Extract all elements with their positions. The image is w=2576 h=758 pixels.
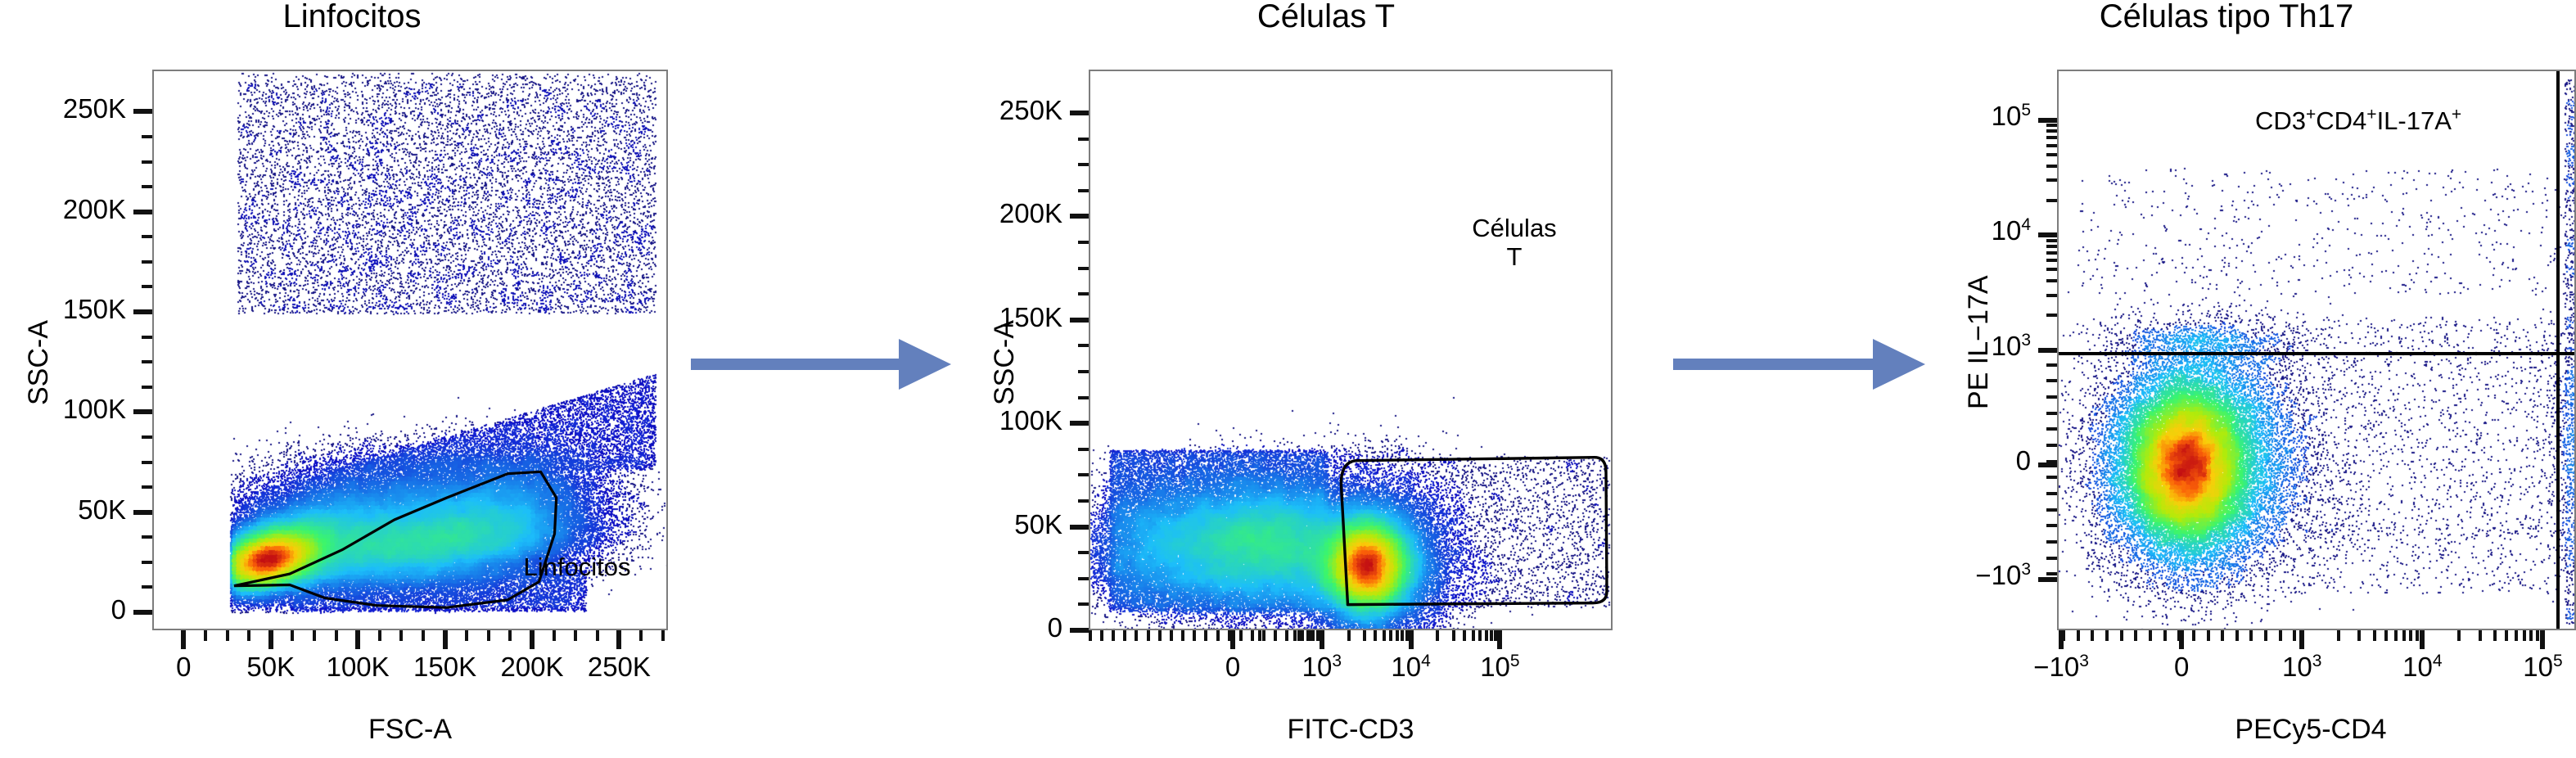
y-major-tick xyxy=(2038,577,2057,582)
x-minor-tick xyxy=(2264,630,2267,641)
x-minor-tick xyxy=(422,630,425,641)
x-minor-tick xyxy=(1490,630,1493,641)
x-minor-tick xyxy=(1147,630,1150,641)
y-major-tick xyxy=(1070,421,1089,426)
y-minor-tick xyxy=(1078,602,1089,606)
y-minor-tick xyxy=(1078,448,1089,451)
y-minor-tick xyxy=(1078,344,1089,347)
x-minor-tick xyxy=(1311,630,1315,641)
x-minor-tick xyxy=(2192,630,2195,641)
x-tick-label: 105 xyxy=(2481,652,2576,683)
x-minor-tick xyxy=(1405,630,1409,641)
y-minor-tick xyxy=(142,461,152,464)
x-minor-tick xyxy=(291,630,294,641)
x-minor-tick xyxy=(1239,630,1243,641)
y-major-tick xyxy=(133,309,152,314)
x-tick-label: 105 xyxy=(1438,652,1561,683)
y-minor-tick xyxy=(142,160,152,164)
x-minor-tick xyxy=(2249,630,2253,641)
x-minor-tick xyxy=(1383,630,1386,641)
y-major-tick xyxy=(1070,111,1089,115)
plot-area-celulas-t[interactable] xyxy=(1089,70,1613,630)
x-minor-tick xyxy=(399,630,403,641)
x-minor-tick xyxy=(313,630,316,641)
x-minor-tick xyxy=(2221,630,2224,641)
y-minor-tick xyxy=(2046,245,2057,248)
x-minor-tick xyxy=(639,630,643,641)
x-minor-tick xyxy=(1089,630,1092,641)
x-minor-tick xyxy=(2207,630,2210,641)
scatter-canvas-celulas-t xyxy=(1090,71,1613,630)
x-minor-tick xyxy=(1216,630,1220,641)
x-major-tick xyxy=(616,630,621,649)
x-minor-tick xyxy=(2479,630,2482,641)
y-minor-tick xyxy=(2046,460,2057,463)
y-minor-tick xyxy=(1078,138,1089,141)
x-major-tick xyxy=(181,630,186,649)
x-minor-tick xyxy=(378,630,381,641)
x-minor-tick xyxy=(1363,630,1366,641)
y-minor-tick xyxy=(1078,163,1089,166)
x-minor-tick xyxy=(2134,630,2137,641)
y-minor-tick xyxy=(2046,153,2057,156)
y-minor-tick xyxy=(2046,379,2057,382)
x-minor-tick xyxy=(1135,630,1138,641)
x-minor-tick xyxy=(204,630,207,641)
x-minor-tick xyxy=(1297,630,1301,641)
y-major-tick xyxy=(2038,232,2057,237)
x-minor-tick xyxy=(1389,630,1392,641)
x-minor-tick xyxy=(2536,630,2539,641)
y-minor-tick xyxy=(2046,557,2057,560)
x-minor-tick xyxy=(487,630,490,641)
y-major-tick xyxy=(1070,628,1089,633)
x-minor-tick xyxy=(2505,630,2508,641)
y-minor-tick xyxy=(2046,412,2057,415)
gate-label-celulas-t-line1: Células xyxy=(1424,214,1604,243)
y-tick-label: 50K xyxy=(0,494,126,526)
x-minor-tick xyxy=(1228,630,1231,641)
y-minor-tick xyxy=(2046,314,2057,317)
x-minor-tick xyxy=(247,630,250,641)
y-minor-tick xyxy=(142,386,152,389)
x-minor-tick xyxy=(2337,630,2340,641)
y-minor-tick xyxy=(1078,473,1089,476)
gate-label-celulas-t-line2: T xyxy=(1424,243,1604,272)
y-minor-tick xyxy=(2046,476,2057,479)
quadrant-divider-vertical[interactable] xyxy=(2556,71,2560,630)
y-minor-tick xyxy=(2046,508,2057,512)
x-minor-tick xyxy=(1494,630,1497,641)
y-minor-tick xyxy=(2046,572,2057,575)
y-minor-tick xyxy=(142,535,152,539)
x-major-tick xyxy=(2299,630,2304,649)
y-minor-tick xyxy=(1078,499,1089,503)
y-minor-tick xyxy=(2046,294,2057,297)
x-tick-label: 0 xyxy=(2120,652,2243,683)
x-minor-tick xyxy=(2177,630,2181,641)
x-axis-label-celulas-t: FITC-CD3 xyxy=(1089,714,1613,746)
y-major-tick xyxy=(133,109,152,114)
x-minor-tick xyxy=(1401,630,1404,641)
plot-area-celulas-th17[interactable] xyxy=(2057,70,2576,630)
y-minor-tick xyxy=(2046,363,2057,367)
y-minor-tick xyxy=(1078,292,1089,296)
x-minor-tick xyxy=(508,630,512,641)
x-major-tick xyxy=(530,630,535,649)
x-minor-tick xyxy=(1463,630,1466,641)
x-minor-tick xyxy=(1478,630,1482,641)
y-minor-tick xyxy=(1078,577,1089,580)
x-minor-tick xyxy=(1374,630,1377,641)
x-minor-tick xyxy=(574,630,577,641)
y-tick-label: 104 xyxy=(1893,215,2031,246)
y-major-tick xyxy=(133,210,152,214)
x-major-tick xyxy=(268,630,273,649)
arrow-linfocitos-to-celulas-t xyxy=(688,327,958,401)
y-major-tick xyxy=(2038,118,2057,123)
x-minor-tick xyxy=(1204,630,1207,641)
x-minor-tick xyxy=(2515,630,2518,641)
x-minor-tick xyxy=(2149,630,2152,641)
panel-title-celulas-th17: Células tipo Th17 xyxy=(1899,0,2554,35)
y-major-tick xyxy=(1070,214,1089,219)
x-minor-tick xyxy=(2279,630,2282,641)
y-minor-tick xyxy=(2046,124,2057,127)
x-minor-tick xyxy=(2409,630,2412,641)
y-minor-tick xyxy=(2046,427,2057,431)
x-minor-tick xyxy=(2402,630,2406,641)
x-minor-tick xyxy=(1181,630,1184,641)
quadrant-label-cd3-cd4-il17a: CD3+CD4+IL-17A+ xyxy=(2255,106,2461,136)
x-minor-tick xyxy=(1258,630,1261,641)
x-minor-tick xyxy=(1316,630,1320,641)
y-tick-label: 0 xyxy=(0,594,126,625)
x-minor-tick xyxy=(2120,630,2123,641)
y-minor-tick xyxy=(2046,144,2057,147)
x-minor-tick xyxy=(2235,630,2239,641)
y-tick-label: 200K xyxy=(925,198,1062,229)
x-minor-tick xyxy=(2457,630,2461,641)
y-minor-tick xyxy=(2046,395,2057,399)
x-minor-tick xyxy=(1472,630,1475,641)
x-major-tick xyxy=(2420,630,2425,649)
panel-title-celulas-t: Células T xyxy=(966,0,1686,35)
x-minor-tick xyxy=(1193,630,1196,641)
y-major-tick xyxy=(1070,525,1089,530)
x-minor-tick xyxy=(661,630,665,641)
y-minor-tick xyxy=(2046,251,2057,255)
y-minor-tick xyxy=(2046,136,2057,139)
y-minor-tick xyxy=(142,561,152,564)
x-minor-tick xyxy=(2293,630,2296,641)
x-minor-tick xyxy=(2373,630,2376,641)
x-major-tick xyxy=(2540,630,2545,649)
arrow-celulas-t-to-th17 xyxy=(1670,327,1932,401)
figure-canvas: Linfocitos SSC-A FSC-A Linfocitos 050K10… xyxy=(0,0,2576,758)
x-minor-tick xyxy=(1251,630,1254,641)
x-minor-tick xyxy=(2357,630,2361,641)
x-axis-label-celulas-th17: PECy5-CD4 xyxy=(2057,714,2565,746)
x-tick-label: 104 xyxy=(2361,652,2484,683)
x-major-tick xyxy=(355,630,360,649)
x-minor-tick xyxy=(1301,630,1304,641)
y-minor-tick xyxy=(2046,259,2057,262)
x-minor-tick xyxy=(1100,630,1103,641)
y-minor-tick xyxy=(1078,396,1089,399)
x-axis-label-linfocitos: FSC-A xyxy=(152,714,668,746)
y-minor-tick xyxy=(1078,241,1089,244)
y-minor-tick xyxy=(2046,178,2057,182)
y-tick-label: −103 xyxy=(1893,560,2031,591)
y-tick-label: 100K xyxy=(0,394,126,425)
x-minor-tick xyxy=(2105,630,2109,641)
y-tick-label: 150K xyxy=(0,294,126,325)
y-tick-label: 200K xyxy=(0,194,126,225)
y-minor-tick xyxy=(142,360,152,363)
gate-label-linfocitos: Linfocitos xyxy=(491,553,663,582)
x-minor-tick xyxy=(2091,630,2094,641)
x-minor-tick xyxy=(226,630,229,641)
x-minor-tick xyxy=(335,630,338,641)
x-minor-tick xyxy=(2416,630,2419,641)
x-tick-label: 250K xyxy=(557,652,680,683)
x-major-tick xyxy=(443,630,448,649)
y-minor-tick xyxy=(142,135,152,138)
y-minor-tick xyxy=(142,435,152,439)
x-minor-tick xyxy=(2523,630,2526,641)
y-minor-tick xyxy=(2046,540,2057,544)
scatter-canvas-celulas-th17 xyxy=(2059,71,2576,630)
x-minor-tick xyxy=(465,630,468,641)
x-minor-tick xyxy=(1158,630,1162,641)
x-minor-tick xyxy=(1123,630,1126,641)
panel-linfocitos: Linfocitos SSC-A FSC-A Linfocitos 050K10… xyxy=(0,0,704,758)
x-minor-tick xyxy=(1396,630,1399,641)
y-minor-tick xyxy=(2046,492,2057,495)
y-minor-tick xyxy=(2046,199,2057,202)
y-minor-tick xyxy=(1078,370,1089,373)
y-minor-tick xyxy=(2046,129,2057,133)
x-major-tick xyxy=(1230,630,1235,649)
x-major-tick xyxy=(1497,630,1502,649)
x-minor-tick xyxy=(1309,630,1312,641)
y-minor-tick xyxy=(142,485,152,489)
x-tick-label: −103 xyxy=(2000,652,2123,683)
y-major-tick xyxy=(2038,348,2057,353)
x-minor-tick xyxy=(2163,630,2167,641)
y-tick-label: 100K xyxy=(925,405,1062,436)
y-minor-tick xyxy=(142,336,152,339)
y-minor-tick xyxy=(142,260,152,264)
x-minor-tick xyxy=(596,630,599,641)
x-minor-tick xyxy=(1347,630,1351,641)
x-minor-tick xyxy=(2529,630,2533,641)
y-minor-tick xyxy=(2046,444,2057,447)
y-minor-tick xyxy=(1078,189,1089,192)
y-major-tick xyxy=(133,409,152,414)
y-minor-tick xyxy=(2046,268,2057,271)
x-minor-tick xyxy=(1274,630,1277,641)
panel-title-linfocitos: Linfocitos xyxy=(0,0,704,35)
y-tick-label: 0 xyxy=(1893,445,2031,476)
y-major-tick xyxy=(2038,462,2057,467)
y-minor-tick xyxy=(1078,551,1089,554)
y-minor-tick xyxy=(2046,165,2057,168)
y-minor-tick xyxy=(2046,279,2057,282)
y-minor-tick xyxy=(2046,524,2057,527)
y-major-tick xyxy=(1070,318,1089,323)
x-minor-tick xyxy=(2394,630,2398,641)
x-minor-tick xyxy=(1170,630,1173,641)
panel-celulas-t: Células T SSC-A FITC-CD3 Células T 050K1… xyxy=(966,0,1686,758)
y-minor-tick xyxy=(142,285,152,288)
y-tick-label: 105 xyxy=(1893,101,2031,132)
panel-celulas-th17: Células tipo Th17 PE IL−17A PECy5-CD4 CD… xyxy=(1940,0,2576,758)
y-minor-tick xyxy=(1078,267,1089,270)
y-tick-label: 0 xyxy=(925,612,1062,643)
y-minor-tick xyxy=(142,585,152,589)
x-minor-tick xyxy=(2493,630,2497,641)
y-major-tick xyxy=(133,510,152,515)
x-minor-tick xyxy=(1485,630,1488,641)
x-minor-tick xyxy=(2062,630,2065,641)
y-tick-label: 50K xyxy=(925,509,1062,540)
x-minor-tick xyxy=(1112,630,1115,641)
x-tick-label: 103 xyxy=(2240,652,2363,683)
x-minor-tick xyxy=(2077,630,2080,641)
y-minor-tick xyxy=(142,235,152,238)
x-minor-tick xyxy=(1436,630,1439,641)
scatter-canvas-linfocitos xyxy=(154,71,668,630)
y-tick-label: 250K xyxy=(0,93,126,124)
gate-label-celulas-t: Células T xyxy=(1424,214,1604,271)
x-major-tick xyxy=(1409,630,1414,649)
y-minor-tick xyxy=(2046,239,2057,242)
x-minor-tick xyxy=(1262,630,1265,641)
plot-area-linfocitos[interactable] xyxy=(152,70,668,630)
y-axis-label-linfocitos: SSC-A xyxy=(23,320,55,405)
x-major-tick xyxy=(1320,630,1324,649)
x-minor-tick xyxy=(1452,630,1455,641)
x-minor-tick xyxy=(2384,630,2388,641)
quadrant-divider-horizontal[interactable] xyxy=(2059,352,2576,355)
x-minor-tick xyxy=(553,630,556,641)
x-minor-tick xyxy=(1293,630,1297,641)
x-minor-tick xyxy=(1285,630,1288,641)
y-major-tick xyxy=(133,610,152,615)
y-minor-tick xyxy=(142,185,152,188)
y-tick-label: 250K xyxy=(925,95,1062,126)
